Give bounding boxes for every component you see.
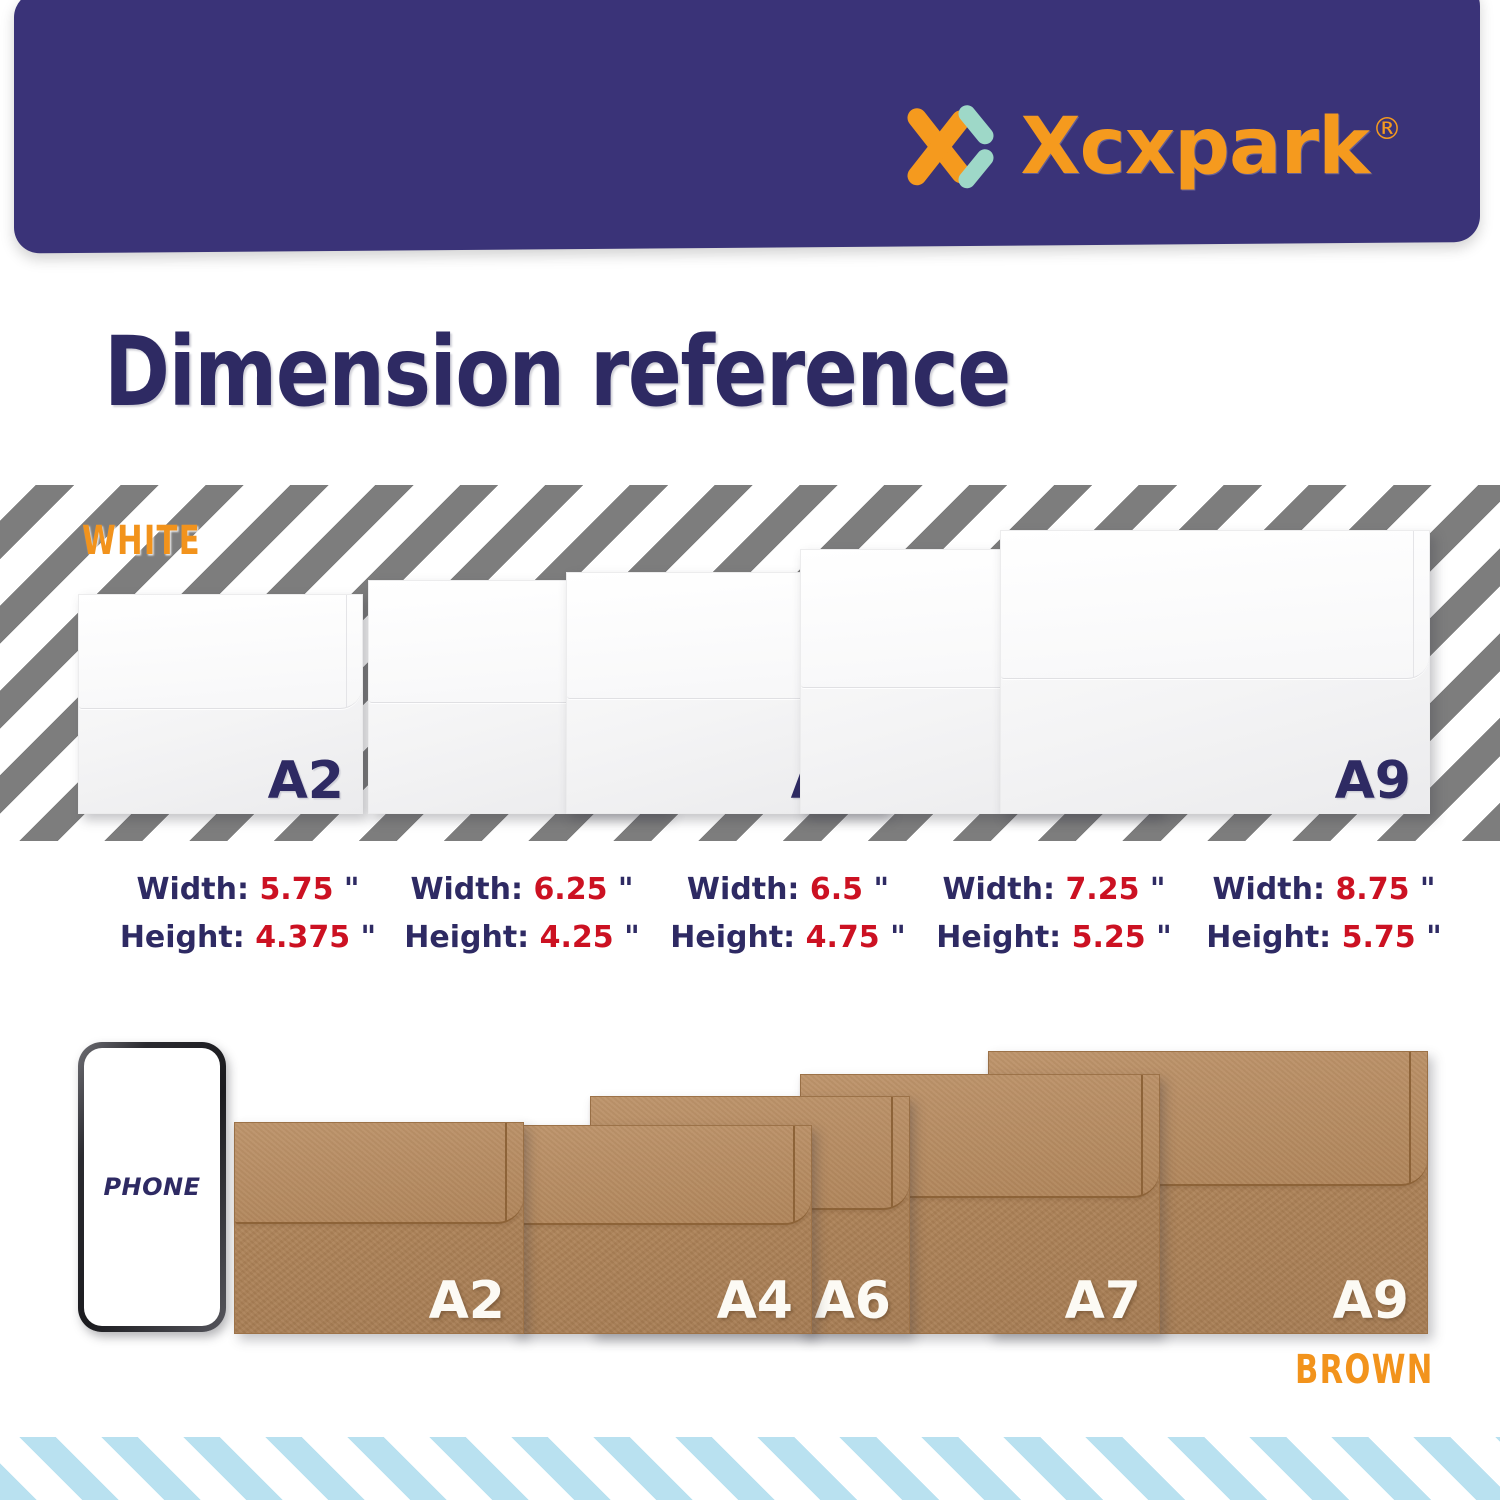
bottom-stripe-band [0, 1437, 1500, 1500]
width-label: Width: [136, 872, 249, 907]
width-unit: " [344, 872, 360, 907]
envelope-flap [235, 1123, 523, 1224]
width-unit: " [618, 872, 634, 907]
envelope-flap [1001, 531, 1429, 679]
width-unit: " [1420, 872, 1436, 907]
page-title: Dimension reference [104, 324, 1010, 420]
height-line: Height: 4.25 " [396, 914, 648, 962]
envelope-size-label: A2 [429, 1275, 505, 1327]
width-line: Width: 7.25 " [928, 866, 1180, 914]
dimension-column-a6: Width: 6.5 " Height: 4.75 " [664, 866, 912, 962]
registered-trademark-icon: ® [1372, 112, 1402, 147]
infographic-page: Xcxpark ® Dimension reference WHITE A2 A… [0, 0, 1500, 1500]
phone-label: PHONE [103, 1173, 200, 1201]
height-label: Height: [936, 920, 1061, 955]
height-value: 4.75 [806, 920, 880, 955]
width-unit: " [873, 872, 889, 907]
width-value: 6.5 [810, 872, 863, 907]
brown-envelope-a2: A2 [234, 1122, 524, 1334]
height-value: 4.375 [255, 920, 350, 955]
height-value: 5.75 [1342, 920, 1416, 955]
phone-screen: PHONE [84, 1048, 220, 1326]
dimension-column-a7: Width: 7.25 " Height: 5.25 " [928, 866, 1180, 962]
width-label: Width: [1212, 872, 1325, 907]
width-value: 7.25 [1065, 872, 1139, 907]
height-label: Height: [120, 920, 245, 955]
width-label: Width: [942, 872, 1055, 907]
width-line: Width: 6.25 " [396, 866, 648, 914]
height-unit: " [361, 920, 377, 955]
envelope-size-label: A9 [1333, 1275, 1409, 1327]
envelope-size-label: A6 [815, 1275, 891, 1327]
envelope-flap [513, 1126, 811, 1225]
width-line: Width: 6.5 " [664, 866, 912, 914]
height-value: 4.25 [540, 920, 614, 955]
height-unit: " [1156, 920, 1172, 955]
envelope-size-label: A4 [717, 1275, 793, 1327]
width-value: 6.25 [533, 872, 607, 907]
envelope-size-label: A2 [268, 755, 344, 807]
dimension-column-a2: Width: 5.75 " Height: 4.375 " [118, 866, 378, 962]
envelope-size-label: A9 [1335, 755, 1411, 807]
white-envelope-a2: A2 [78, 594, 363, 814]
envelope-flap [79, 595, 362, 709]
white-section-label: WHITE [82, 518, 201, 564]
width-line: Width: 8.75 " [1196, 866, 1452, 914]
height-label: Height: [670, 920, 795, 955]
height-value: 5.25 [1072, 920, 1146, 955]
width-line: Width: 5.75 " [118, 866, 378, 914]
height-unit: " [624, 920, 640, 955]
dimension-column-a4: Width: 6.25 " Height: 4.25 " [396, 866, 648, 962]
brand-name: Xcxpark [1021, 110, 1370, 184]
dimension-column-a9: Width: 8.75 " Height: 5.75 " [1196, 866, 1452, 962]
dimension-table: Width: 5.75 " Height: 4.375 " Width: 6.2… [0, 866, 1500, 966]
width-value: 8.75 [1335, 872, 1409, 907]
width-unit: " [1150, 872, 1166, 907]
brown-section-label: BROWN [1295, 1347, 1434, 1393]
height-line: Height: 5.75 " [1196, 914, 1452, 962]
x-mark-logo-icon [907, 104, 999, 190]
height-label: Height: [404, 920, 529, 955]
brand-logo: Xcxpark ® [907, 104, 1403, 190]
header-banner: Xcxpark ® [14, 0, 1480, 254]
width-label: Width: [410, 872, 523, 907]
brown-envelope-a4: A4 [512, 1125, 812, 1334]
height-unit: " [890, 920, 906, 955]
envelope-size-label: A7 [1065, 1275, 1141, 1327]
height-line: Height: 4.375 " [118, 914, 378, 962]
white-envelope-a9: A9 [1000, 530, 1430, 814]
height-line: Height: 5.25 " [928, 914, 1180, 962]
height-label: Height: [1206, 920, 1331, 955]
width-value: 5.75 [259, 872, 333, 907]
height-unit: " [1426, 920, 1442, 955]
width-label: Width: [687, 872, 800, 907]
height-line: Height: 4.75 " [664, 914, 912, 962]
phone-size-reference: PHONE [78, 1042, 226, 1332]
